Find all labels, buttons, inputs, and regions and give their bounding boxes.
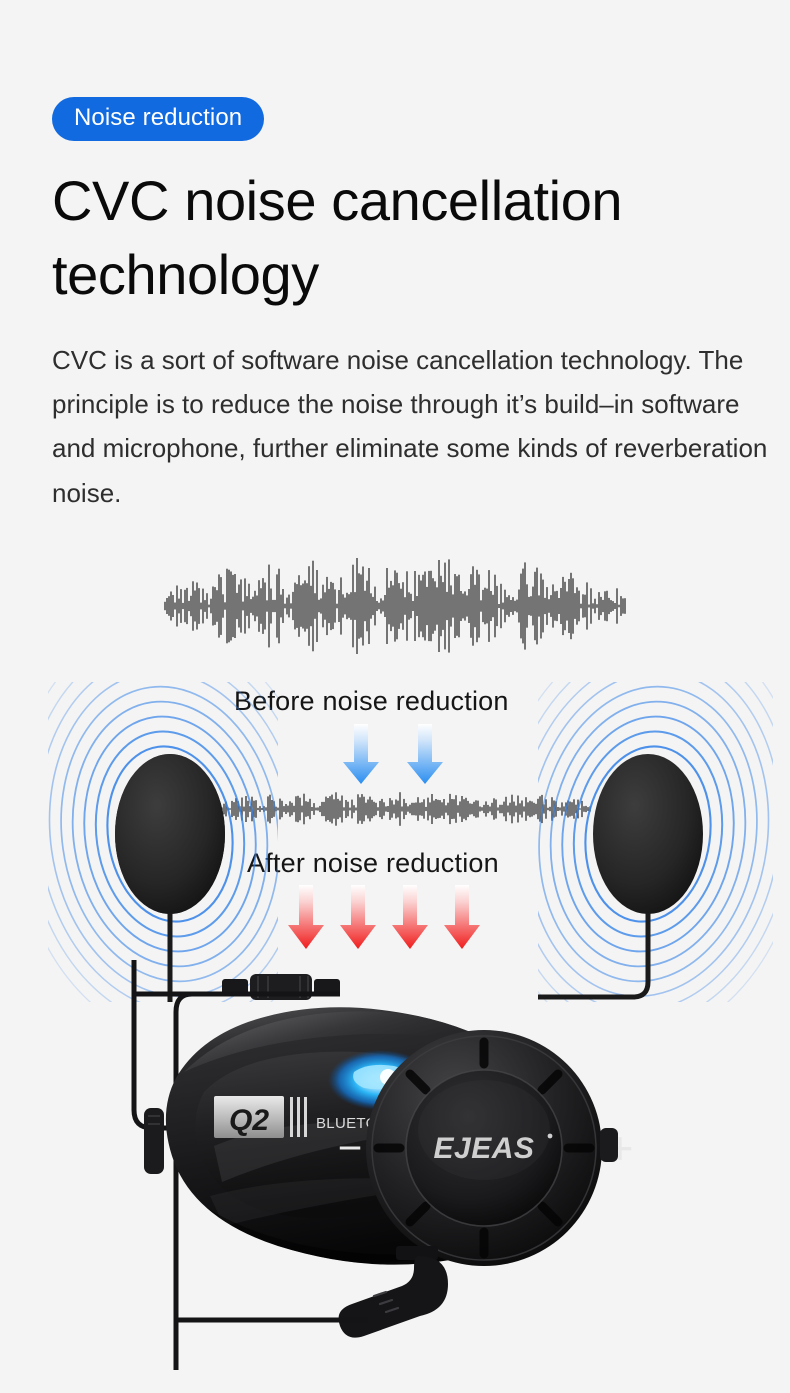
noise-reduction-badge: Noise reduction xyxy=(52,97,264,141)
brand-logo: EJEAS xyxy=(434,1132,535,1165)
waveform-before-icon xyxy=(163,558,628,654)
label-after-noise-reduction: After noise reduction xyxy=(247,848,499,879)
right-speaker-with-sound-rings xyxy=(538,682,773,1002)
jog-dial[interactable]: EJEAS xyxy=(366,1030,602,1266)
description-paragraph: CVC is a sort of software noise cancella… xyxy=(52,338,788,515)
page-title: CVC noise cancellation technology xyxy=(52,164,742,313)
infographic-page: Noise reduction CVC noise cancellation t… xyxy=(0,0,790,1393)
bluetooth-intercom-headset: Q2 BLUETOOTH INTERCOM xyxy=(118,960,678,1370)
left-speaker-with-sound-rings xyxy=(48,682,278,1002)
red-arrows-icon xyxy=(288,885,483,953)
noise-reduction-diagram: Before noise reduction After noise reduc… xyxy=(0,540,790,1393)
volume-down-button[interactable]: − xyxy=(338,1124,363,1171)
blue-arrows-icon xyxy=(335,724,455,786)
model-badge-text: Q2 xyxy=(229,1104,269,1137)
